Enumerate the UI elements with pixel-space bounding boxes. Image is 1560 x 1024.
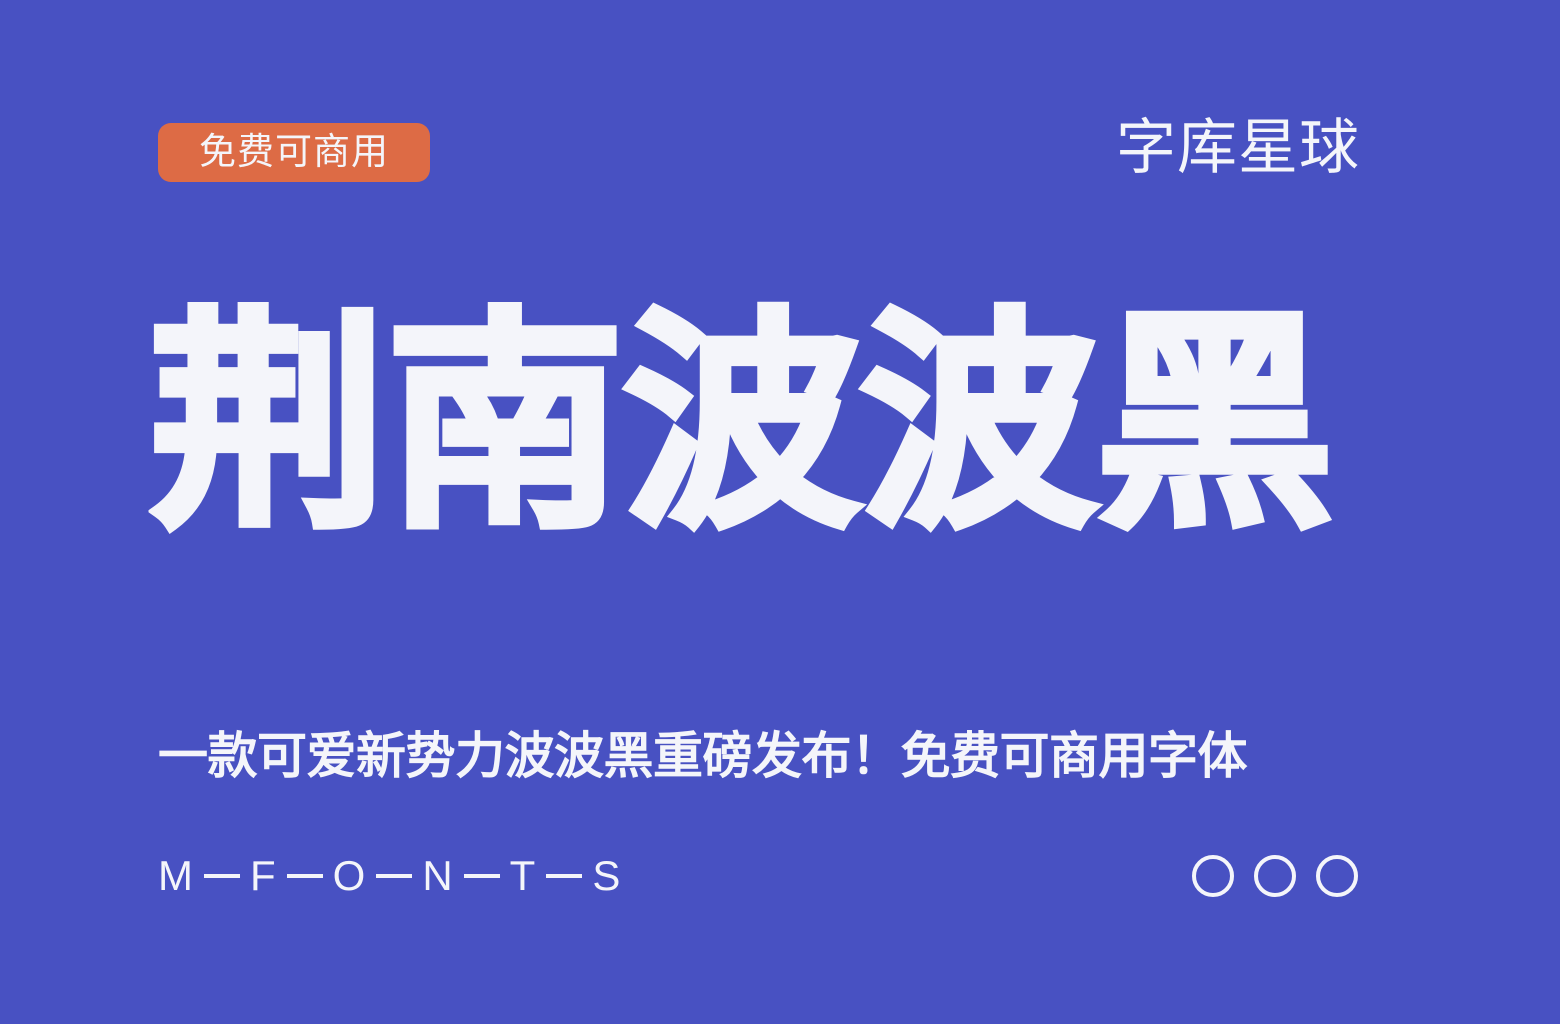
wordmark-dash — [546, 874, 582, 878]
free-commercial-badge-label: 免费可商用 — [199, 133, 389, 170]
free-commercial-badge: 免费可商用 — [158, 123, 430, 182]
circle-icon — [1316, 855, 1358, 897]
wordmark-dash — [287, 874, 323, 878]
brand-name: 字库星球 — [1116, 118, 1360, 178]
wordmark-dash — [376, 874, 412, 878]
subtitle-text: 一款可爱新势力波波黑重磅发布！免费可商用字体 — [158, 728, 1362, 784]
decorative-dots — [1192, 855, 1358, 897]
poster-canvas: 免费可商用 字库星球 荆南波波黑 一款可爱新势力波波黑重磅发布！免费可商用字体 … — [0, 0, 1560, 1024]
wordmark-letter: T — [510, 855, 537, 897]
wordmark-letter: N — [422, 855, 453, 897]
wordmark-dash — [464, 874, 500, 878]
wordmark-letter: F — [250, 855, 277, 897]
mfonts-wordmark: MFONTS — [158, 855, 621, 897]
circle-icon — [1192, 855, 1234, 897]
circle-icon — [1254, 855, 1296, 897]
hero-title-block: 荆南波波黑 — [150, 300, 1360, 550]
wordmark-dash — [204, 874, 240, 878]
font-name-title: 荆南波波黑 — [150, 315, 1333, 535]
footer-row: MFONTS — [158, 848, 1358, 904]
wordmark-letter: S — [592, 855, 621, 897]
wordmark-letter: O — [333, 855, 367, 897]
wordmark-letter: M — [158, 855, 194, 897]
